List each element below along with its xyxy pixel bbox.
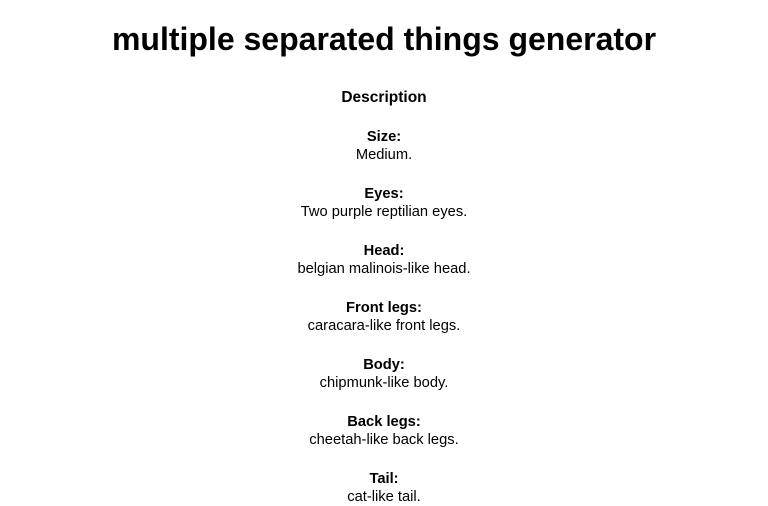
trait-value: belgian malinois-like head. (0, 260, 768, 278)
description-heading: Description (0, 89, 768, 108)
trait-value: Two purple reptilian eyes. (0, 203, 768, 221)
trait-label: Body: (0, 356, 768, 374)
generator-page: multiple separated things generator Desc… (0, 21, 768, 506)
trait-value: cheetah-like back legs. (0, 431, 768, 449)
trait-item: Body: chipmunk-like body. (0, 356, 768, 392)
trait-label: Head: (0, 242, 768, 260)
trait-item: Tail: cat-like tail. (0, 470, 768, 506)
trait-label: Back legs: (0, 413, 768, 431)
page-title: multiple separated things generator (0, 21, 768, 58)
trait-item: Back legs: cheetah-like back legs. (0, 413, 768, 449)
trait-list: Size: Medium. Eyes: Two purple reptilian… (0, 128, 768, 506)
trait-label: Eyes: (0, 185, 768, 203)
trait-value: cat-like tail. (0, 488, 768, 506)
trait-item: Eyes: Two purple reptilian eyes. (0, 185, 768, 221)
trait-item: Size: Medium. (0, 128, 768, 164)
trait-item: Head: belgian malinois-like head. (0, 242, 768, 278)
trait-value: Medium. (0, 146, 768, 164)
trait-value: chipmunk-like body. (0, 374, 768, 392)
trait-label: Size: (0, 128, 768, 146)
trait-item: Front legs: caracara-like front legs. (0, 299, 768, 335)
trait-value: caracara-like front legs. (0, 317, 768, 335)
trait-label: Tail: (0, 470, 768, 488)
trait-label: Front legs: (0, 299, 768, 317)
